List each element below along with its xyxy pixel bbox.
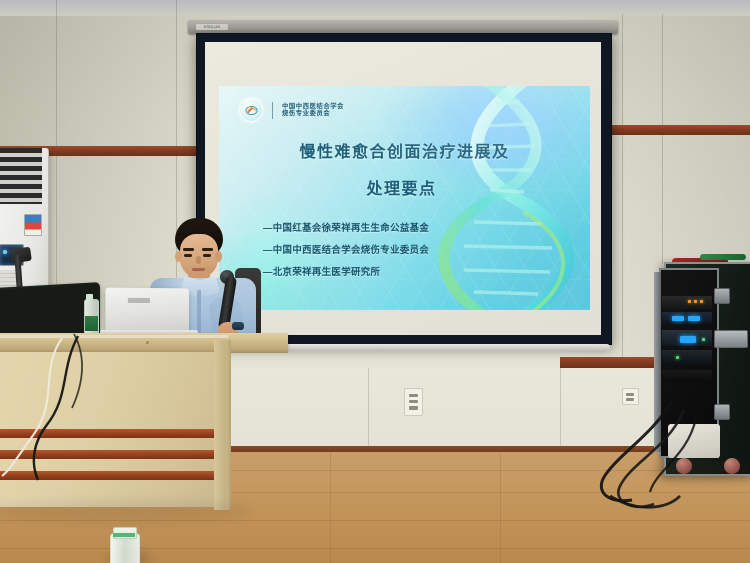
screen-brand-label: ESDLUN [196, 24, 228, 30]
rack-led-amber [700, 300, 703, 303]
wall-seam-3 [622, 14, 623, 372]
av-rack-latch-top[interactable] [714, 288, 730, 304]
rack-led-amber [694, 300, 697, 303]
av-rack-handle[interactable] [714, 330, 748, 348]
podium-stripe [0, 429, 218, 438]
wall-trim-right-upper [603, 125, 750, 135]
slide-logo: 中国中西医结合学会 烧伤专业委员会 [239, 98, 344, 122]
rack-led-amber [688, 300, 691, 303]
lower-wall-seam-1 [368, 368, 369, 458]
bottle-label [85, 316, 98, 331]
eye-left [184, 254, 192, 257]
projected-slide: 中国中西医结合学会 烧伤专业委员会 慢性难愈合创面治疗进展及 处理要点 —中国红… [219, 86, 590, 310]
rack-floor-shadow [650, 462, 750, 482]
eye-right [203, 254, 211, 257]
water-bottle-desk[interactable] [84, 299, 99, 337]
rack-led-blue [688, 316, 700, 321]
slide-bullet-2: —中国中西医结合学会烧伤专业委员会 [263, 242, 429, 256]
nose [196, 256, 201, 264]
logo-text: 中国中西医结合学会 烧伤专业委员会 [282, 103, 344, 117]
ceiling [0, 0, 750, 16]
rack-led-green [702, 338, 705, 341]
rack-display-blue [680, 336, 696, 343]
slide-bullet-3: —北京荣祥再生医学研究所 [263, 264, 429, 278]
av-rack-rail [654, 272, 661, 452]
rack-led-blue [672, 316, 684, 321]
av-rack-unit[interactable] [662, 296, 712, 309]
logo-divider [272, 102, 273, 119]
wall-seam-4 [662, 14, 663, 264]
ear-left [175, 251, 182, 262]
desk-lamp-head[interactable] [10, 247, 32, 264]
rack-cable-green [700, 254, 746, 260]
slide-title-line-2: 处理要点 [219, 175, 590, 199]
eyebrow-left [183, 248, 194, 251]
podium-side-edge [226, 340, 231, 510]
logo-line-2: 烧伤专业委员会 [282, 110, 344, 117]
av-rack-unit[interactable] [662, 370, 712, 382]
av-rack-unit[interactable] [662, 312, 712, 324]
slide-title-line-1: 慢性难愈合创面治疗进展及 [219, 138, 590, 162]
bottle-cap-desk [86, 294, 93, 300]
slide-title: 慢性难愈合创面治疗进展及 处理要点 [219, 138, 590, 212]
podium-stripe [0, 450, 218, 459]
smartwatch [232, 322, 244, 330]
eyebrow-right [202, 248, 213, 251]
rack-led-green [676, 356, 679, 359]
av-rack-latch-bottom[interactable] [714, 404, 730, 420]
logo-line-1: 中国中西医结合学会 [282, 103, 344, 110]
wall-outlet-right[interactable] [622, 388, 639, 405]
wall-outlet-left[interactable] [404, 388, 423, 416]
association-emblem-icon [239, 98, 263, 122]
lower-wall-seam-2 [560, 368, 561, 458]
water-bottle-floor-cap-band [113, 533, 135, 537]
screen-roller-housing[interactable]: ESDLUN [188, 20, 618, 34]
rack-cloth-cover [668, 424, 720, 458]
slide-bullet-1: —中国红基会徐荣祥再生生命公益基金 [263, 220, 429, 234]
podium-screw [146, 341, 149, 344]
laptop[interactable] [105, 288, 189, 333]
laptop-brand-logo [128, 298, 150, 303]
podium-stripe [0, 471, 218, 480]
av-rack-unit[interactable] [662, 350, 712, 365]
floor-seam [500, 452, 501, 563]
air-conditioner-power-led [3, 250, 7, 254]
ear-right [215, 251, 222, 262]
slide-bullet-list: —中国红基会徐荣祥再生生命公益基金 —中国中西医结合学会烧伤专业委员会 —北京荣… [263, 220, 429, 286]
podium-cap-highlight [0, 335, 228, 338]
air-conditioner-louvers [0, 148, 42, 204]
podium-floor-shadow [0, 500, 250, 522]
floor-seam [330, 452, 331, 563]
energy-rating-label [24, 214, 42, 236]
photo-scene: ESDLUN [0, 0, 750, 563]
